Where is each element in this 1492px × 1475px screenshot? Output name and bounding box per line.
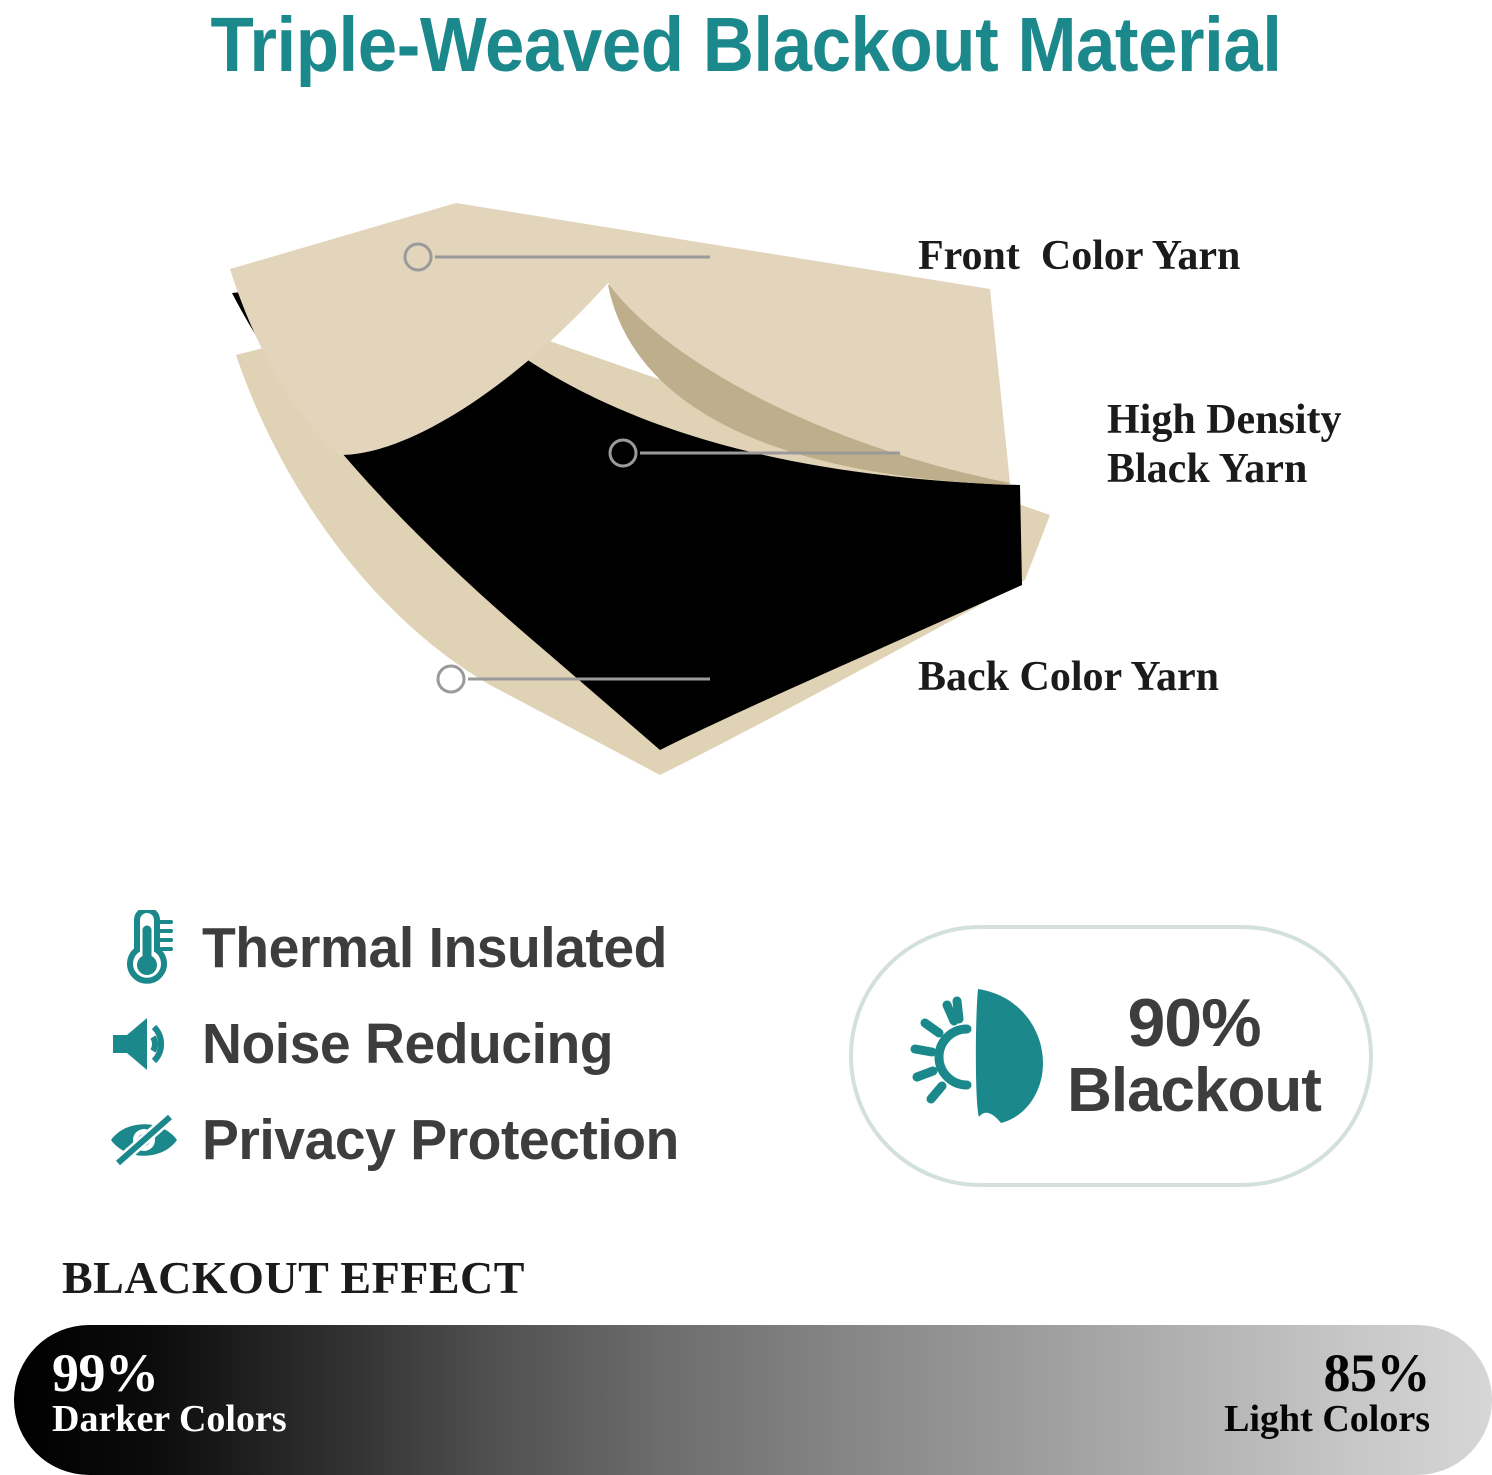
blackout-percentage-badge: 90% Blackout [849, 925, 1373, 1187]
eye-slash-icon [106, 1102, 182, 1178]
badge-percent: 90% [1127, 988, 1260, 1058]
feature-label-thermal: Thermal Insulated [202, 918, 667, 978]
callout-label-back-color-yarn: Back Color Yarn [918, 653, 1219, 702]
stat-darker-caption: Darker Colors [52, 1400, 287, 1440]
feature-list: Thermal Insulated Noise Reducing Privacy… [106, 900, 806, 1188]
circle-marker-icon [438, 666, 464, 692]
badge-word: Blackout [1067, 1058, 1321, 1124]
feature-row-privacy: Privacy Protection [106, 1092, 806, 1188]
feature-row-noise: Noise Reducing [106, 996, 806, 1092]
stat-darker-colors: 99% Darker Colors [52, 1345, 287, 1440]
speaker-volume-icon [106, 1006, 182, 1082]
stat-light-colors: 85% Light Colors [1224, 1345, 1430, 1440]
blackout-effect-heading: BLACKOUT EFFECT [62, 1252, 525, 1304]
stat-light-caption: Light Colors [1224, 1400, 1430, 1440]
feature-label-noise: Noise Reducing [202, 1014, 613, 1074]
stat-darker-percent: 99% [52, 1345, 287, 1402]
stat-light-percent: 85% [1224, 1345, 1430, 1402]
feature-label-privacy: Privacy Protection [202, 1110, 679, 1170]
feature-row-thermal: Thermal Insulated [106, 900, 806, 996]
callout-label-high-density-black-yarn: High Density Black Yarn [1107, 396, 1342, 493]
page-title: Triple-Weaved Blackout Material [60, 2, 1433, 88]
badge-text-block: 90% Blackout [1067, 988, 1321, 1124]
sun-blocked-by-curtain-icon [901, 981, 1051, 1131]
thermometer-icon [106, 910, 182, 986]
callout-label-front-color-yarn: Front Color Yarn [918, 232, 1240, 281]
